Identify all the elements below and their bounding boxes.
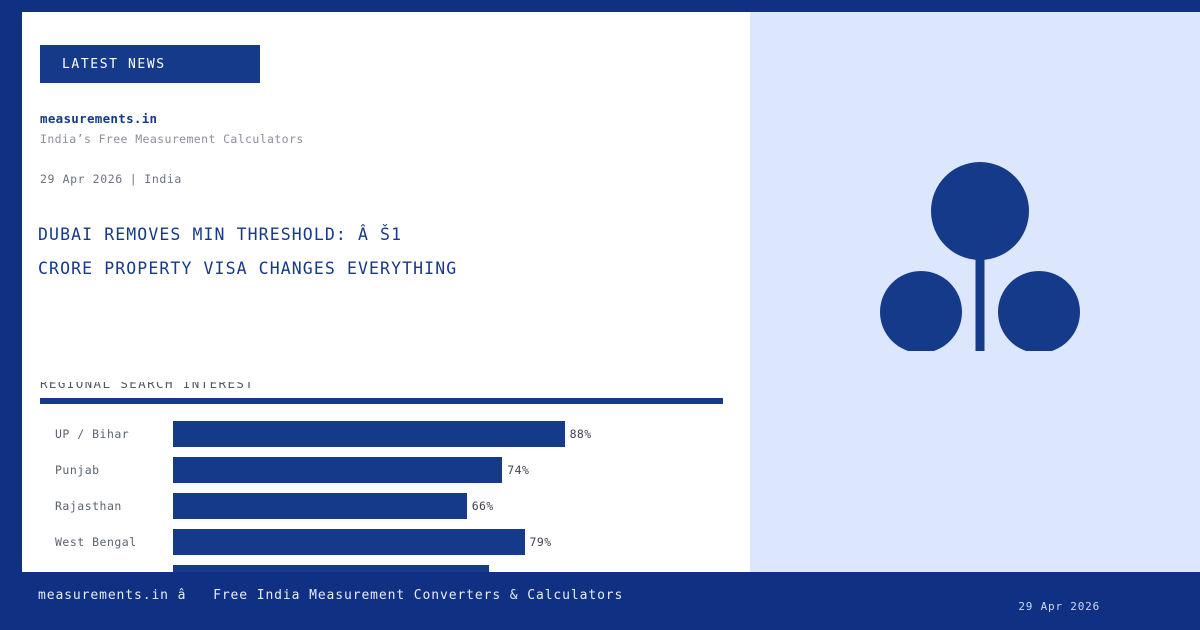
latest-news-badge-label: LATEST NEWS (40, 57, 166, 72)
regional-search-interest-chart: REGIONAL SEARCH INTEREST UP / Bihar88%Pu… (40, 382, 740, 572)
footer-separator (186, 588, 213, 603)
art-panel (750, 12, 1200, 572)
chart-bar-track: 71% (173, 565, 740, 572)
chart-bar-row: Rajasthan66% (40, 488, 740, 524)
chart-bar-label: West Bengal (40, 535, 173, 549)
chart-bar-track: 66% (173, 493, 740, 519)
chart-bar-row: UP / Bihar88% (40, 416, 740, 452)
chart-bar-row: Punjab74% (40, 452, 740, 488)
chart-bar (173, 421, 565, 447)
article-headline: DUBAI REMOVES MIN THRESHOLD: â š1 CRORE … (38, 218, 738, 286)
meta-separator: | (123, 172, 145, 186)
article-meta: 29 Apr 2026|India (40, 172, 182, 186)
chart-bar-label: Punjab (40, 463, 173, 477)
chart-bar-label: UP / Bihar (40, 427, 173, 441)
footer-date: 29 Apr 2026 (1018, 600, 1100, 613)
latest-news-badge: LATEST NEWS (40, 45, 260, 83)
chart-bar-rows: UP / Bihar88%Punjab74%Rajasthan66%West B… (40, 416, 740, 572)
footer-tagline: Free India Measurement Converters & Calc… (213, 588, 623, 603)
share-card-canvas: LATEST NEWS measurements.in India’s Free… (0, 0, 1200, 630)
footer-brand-line: measurements.in â Free India Measurement… (38, 588, 623, 603)
chart-title-divider (40, 398, 723, 404)
chart-bar-track: 79% (173, 529, 740, 555)
chart-bar-track: 88% (173, 421, 740, 447)
chart-bar-label: Rajasthan (40, 499, 173, 513)
chart-bar (173, 493, 467, 519)
article-date: 29 Apr 2026 (40, 172, 123, 186)
article-region: India (144, 172, 182, 186)
content-card: LATEST NEWS measurements.in India’s Free… (22, 12, 750, 572)
footer-brand: measurements.in â (38, 588, 186, 603)
chart-title: REGIONAL SEARCH INTEREST (40, 382, 254, 391)
top-accent-rail (0, 0, 1200, 12)
chart-bar-row: TN / Kerala71% (40, 560, 740, 572)
chart-bar (173, 457, 502, 483)
chart-bar (173, 529, 525, 555)
left-accent-rail (0, 0, 22, 572)
tree-logo-icon (880, 151, 1080, 351)
chart-bar-value: 66% (467, 499, 494, 513)
chart-bar-track: 74% (173, 457, 740, 483)
brand-tagline: India’s Free Measurement Calculators (40, 132, 304, 146)
chart-bar-row: West Bengal79% (40, 524, 740, 560)
chart-bar (173, 565, 489, 572)
chart-bar-value: 79% (525, 535, 552, 549)
brand-name: measurements.in (40, 111, 157, 126)
chart-bar-value: 88% (565, 427, 592, 441)
chart-bar-value: 74% (502, 463, 529, 477)
